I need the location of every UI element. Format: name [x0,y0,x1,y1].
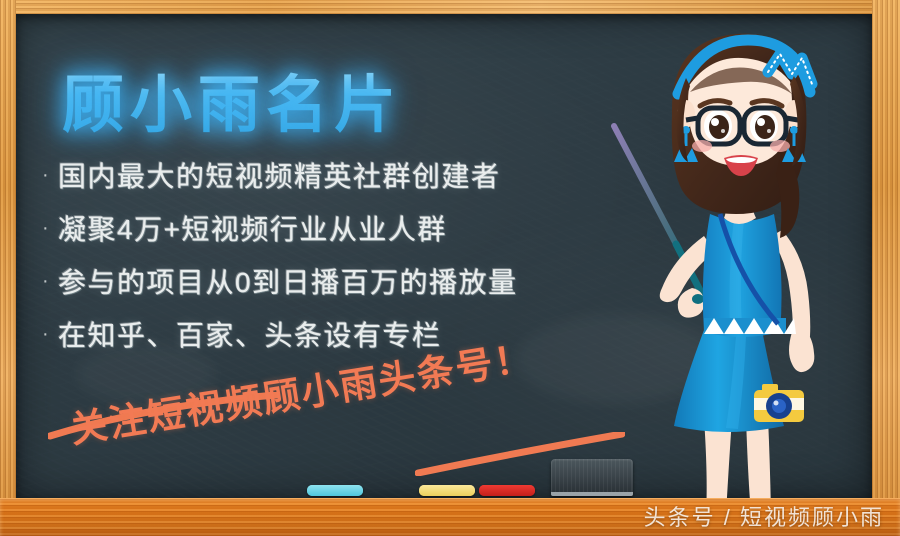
list-item: · 国内最大的短视频精英社群创建者 [42,148,642,201]
red-chalk-stick-top[interactable] [479,485,535,496]
list-item: · 凝聚4万+短视频行业从业人群 [42,201,642,254]
bullet-marker-icon: · [42,271,58,291]
left-eye [704,110,732,142]
right-eye [750,110,778,142]
list-item: · 参与的项目从0到日播百万的播放量 [42,254,642,307]
bullet-marker-icon: · [42,218,58,238]
page-title: 顾小雨名片 [62,54,402,144]
list-item-label: 在知乎、百家、头条设有专栏 [58,314,442,354]
list-item: · 在知乎、百家、头条设有专栏 [42,307,642,360]
frame-left [0,0,16,536]
frame-right [872,0,900,536]
right-cheek [770,140,790,152]
left-cheek [692,140,712,152]
bullet-list: · 国内最大的短视频精英社群创建者 · 凝聚4万+短视频行业从业人群 · 参与的… [42,148,642,360]
list-item-label: 参与的项目从0到日播百万的播放量 [58,261,518,301]
poster-canvas: 顾小雨名片 · 国内最大的短视频精英社群创建者 · 凝聚4万+短视频行业从业人群… [0,0,900,536]
yellow-chalk-stick-top[interactable] [419,485,475,496]
list-item-label: 凝聚4万+短视频行业从业人群 [58,208,447,248]
watermark: 头条号 / 短视频顾小雨 [644,500,884,532]
frame-top [0,0,900,14]
cartoon-teacher-girl [586,18,886,518]
cyan-chalk-stick-top[interactable] [307,485,363,496]
list-item-label: 国内最大的短视频精英社群创建者 [58,155,501,195]
zigzag-belt [704,318,796,334]
bullet-marker-icon: · [42,324,58,344]
bullet-marker-icon: · [42,165,58,185]
